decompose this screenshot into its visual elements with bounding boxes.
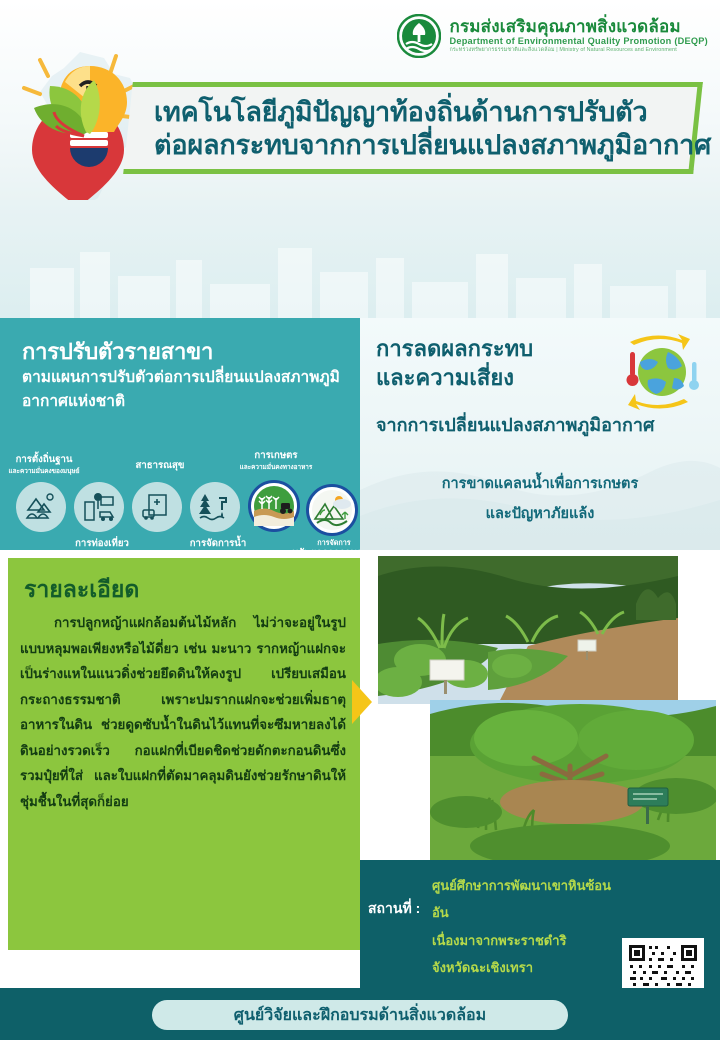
- detail-body-text: การปลูกหญ้าแฝกล้อมต้นไม้หลัก ไม่ว่าจะอยู…: [20, 610, 346, 814]
- left-white-fill: [0, 950, 360, 988]
- vetiver-field-photo: [378, 556, 678, 704]
- water-management-icon: [190, 482, 240, 532]
- mitigation-heading: การลดผลกระทบ และความเสี่ยง: [376, 334, 606, 392]
- sector-item-natural-resources[interactable]: การจัดการ ทรัพยากรธรรมชาติ: [306, 484, 362, 536]
- location-label: สถานที่ :: [368, 898, 420, 920]
- city-skyline-silhouette: [0, 232, 720, 318]
- sector-label-tourism: การท่องเที่ยว: [44, 538, 160, 550]
- mitigation-issue: การขาดแคลนน้ำเพื่อการเกษตร และปัญหาภัยแล…: [360, 470, 720, 529]
- sector-item-water[interactable]: การจัดการน้ำ: [190, 482, 246, 532]
- sector-label-settlement: การตั้งถิ่นฐาน: [0, 454, 102, 466]
- globe-thermometer-icon: [608, 328, 706, 416]
- issue-line-1: การขาดแคลนน้ำเพื่อการเกษตร: [360, 470, 720, 500]
- deqp-logo: กรมส่งเสริมคุณภาพสิ่งแวดล้อม Department …: [397, 14, 708, 58]
- adaptation-subheading: ตามแผนการปรับตัวต่อการเปลี่ยนแปลงสภาพภูม…: [22, 366, 352, 414]
- mitigation-heading-line2: และความเสี่ยง: [376, 365, 514, 390]
- footer-text: ศูนย์วิจัยและฝึกอบรมด้านสิ่งแวดล้อม: [234, 1003, 486, 1028]
- title-line-1: เทคโนโลยีภูมิปัญญาท้องถิ่นด้านการปรับตัว: [154, 96, 647, 129]
- sector-item-health[interactable]: สาธารณสุข: [132, 482, 188, 532]
- location-line-1: ศูนย์ศึกษาการพัฒนาเขาหินซ้อนอัน: [432, 872, 618, 927]
- technology-name-band: ชื่อเทคโนโลยี : “การปลูกหญ้าแฝกล้อมต้นมะ…: [0, 200, 720, 318]
- tourism-icon: [74, 482, 124, 532]
- org-name-en: Department of Environmental Quality Prom…: [449, 37, 708, 47]
- sector-label-water: การจัดการน้ำ: [160, 538, 276, 550]
- lime-tree-vetiver-photo: [430, 700, 716, 860]
- health-icon: [132, 482, 182, 532]
- sector-icon-row: การตั้งถิ่นฐาน และความมั่นคงของมนุษย์: [0, 452, 360, 550]
- hot-thermometer: [627, 352, 639, 386]
- sector-item-tourism[interactable]: การท่องเที่ยว: [74, 482, 130, 532]
- detail-heading: รายละเอียด: [24, 572, 139, 608]
- location-line-2: เนื่องมาจากพระราชดำริ: [432, 927, 618, 954]
- title-line-2: ต่อผลกระทบจากการเปลี่ยนแปลงสภาพภูมิอากาศ: [154, 129, 711, 162]
- issue-line-2: และปัญหาภัยแล้ง: [360, 500, 720, 530]
- sector-label-health: สาธารณสุข: [102, 460, 218, 472]
- footer-pill: ศูนย์วิจัยและฝึกอบรมด้านสิ่งแวดล้อม: [152, 1000, 568, 1030]
- deqp-emblem-icon: [397, 14, 441, 58]
- org-ministry: กระทรวงทรัพยากรธรรมชาติและสิ่งแวดล้อม | …: [449, 48, 708, 54]
- page-title: เทคโนโลยีภูมิปัญญาท้องถิ่นด้านการปรับตัว…: [140, 86, 700, 172]
- location-line-3: จังหวัดฉะเชิงเทรา: [432, 954, 618, 981]
- sector-label-agriculture: การเกษตร: [218, 450, 334, 462]
- cold-thermometer: [689, 362, 699, 390]
- header: กรมส่งเสริมคุณภาพสิ่งแวดล้อม Department …: [0, 0, 720, 200]
- natural-resources-icon: [306, 484, 358, 536]
- sector-item-agriculture[interactable]: การเกษตร และความมั่นคงทางอาหาร: [248, 480, 304, 532]
- settlement-icon: [16, 482, 66, 532]
- agriculture-icon: [248, 480, 300, 532]
- sector-sublabel-agriculture: และความมั่นคงทางอาหาร: [218, 464, 334, 472]
- location-value: ศูนย์ศึกษาการพัฒนาเขาหินซ้อนอัน เนื่องมา…: [432, 872, 618, 981]
- yellow-arrow-icon: [352, 680, 380, 724]
- sector-item-settlement[interactable]: การตั้งถิ่นฐาน และความมั่นคงของมนุษย์: [16, 482, 72, 532]
- adaptation-heading: การปรับตัวรายสาขา: [22, 334, 213, 369]
- mitigation-heading-line1: การลดผลกระทบ: [376, 336, 533, 361]
- sector-sublabel-settlement: และความมั่นคงของมนุษย์: [0, 468, 102, 476]
- org-name-th: กรมส่งเสริมคุณภาพสิ่งแวดล้อม: [449, 18, 708, 36]
- poster-root: กรมส่งเสริมคุณภาพสิ่งแวดล้อม Department …: [0, 0, 720, 1040]
